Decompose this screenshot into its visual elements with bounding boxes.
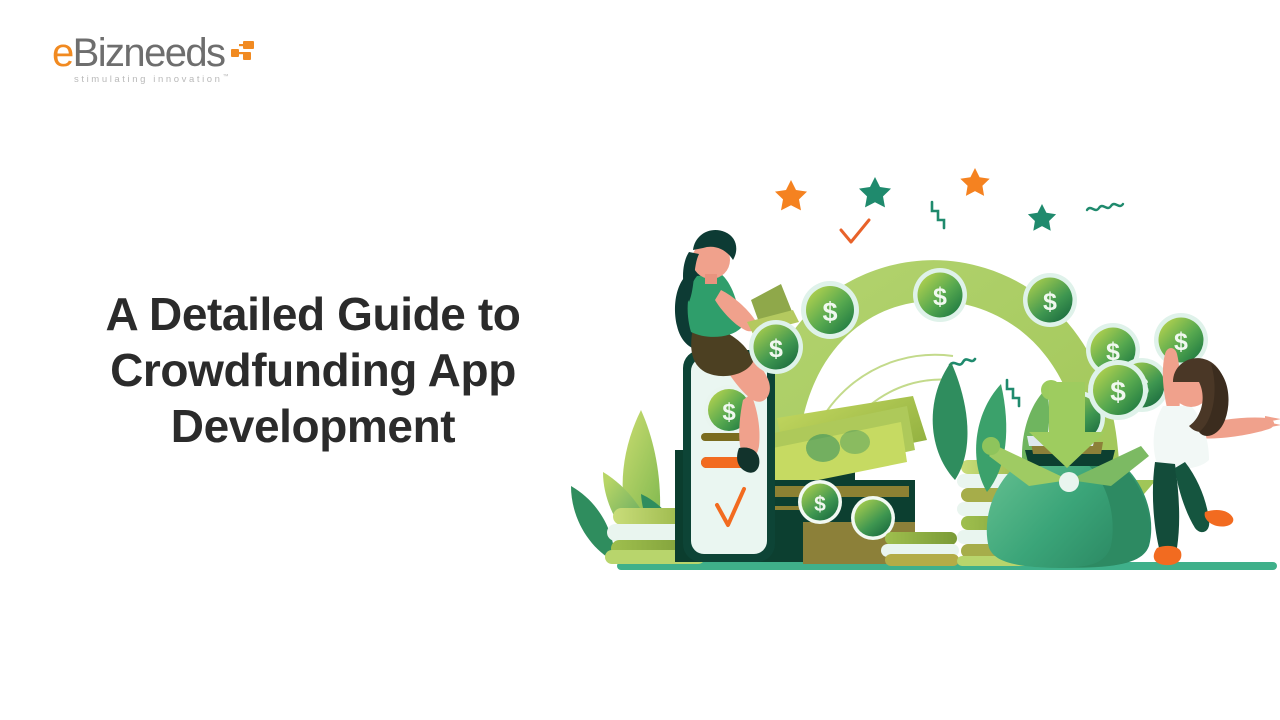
svg-text:$: $ (1043, 288, 1057, 316)
logo-text-bizneeds: Bizneeds (73, 31, 225, 75)
star-orange-right (960, 168, 989, 196)
trademark-symbol: ™ (223, 74, 229, 80)
dollar-coin-9: $ (1088, 360, 1148, 420)
page-title: A Detailed Guide to Crowdfunding App Dev… (40, 286, 586, 454)
dollar-coin-2: $ (749, 320, 803, 374)
logo-tagline-text: stimulating innovation (74, 74, 223, 85)
dollar-coin-4: $ (1023, 273, 1077, 327)
brand-logo[interactable]: eBizneeds stimulating innovation™ (52, 33, 262, 89)
svg-text:$: $ (933, 283, 947, 311)
svg-text:$: $ (822, 297, 837, 327)
squiggle-mid (950, 359, 975, 365)
checkmark-decor-icon (841, 220, 869, 242)
squiggle-right (1087, 204, 1123, 210)
wallet-coin-a: $ (798, 480, 842, 524)
star-teal (859, 177, 891, 207)
svg-text:$: $ (814, 493, 826, 516)
dollar-coin-1: $ (801, 281, 859, 339)
star-teal-right (1028, 204, 1056, 231)
orange-blocks-mark-icon (231, 41, 259, 65)
celebrating-woman (1153, 348, 1280, 565)
svg-text:$: $ (769, 335, 783, 363)
squiggle-top-right (932, 202, 944, 228)
logo-tagline: stimulating innovation™ (74, 74, 229, 85)
svg-text:$: $ (1110, 376, 1126, 407)
crowdfunding-illustration: $ $ (555, 150, 1280, 590)
coin-stack-mid (881, 532, 959, 566)
logo-letter-e: e (52, 31, 73, 75)
dollar-coin-3: $ (913, 268, 967, 322)
squiggle-lower (1007, 380, 1019, 406)
coin-dollar-glyph: $ (722, 399, 736, 426)
star-orange-left (775, 180, 807, 210)
